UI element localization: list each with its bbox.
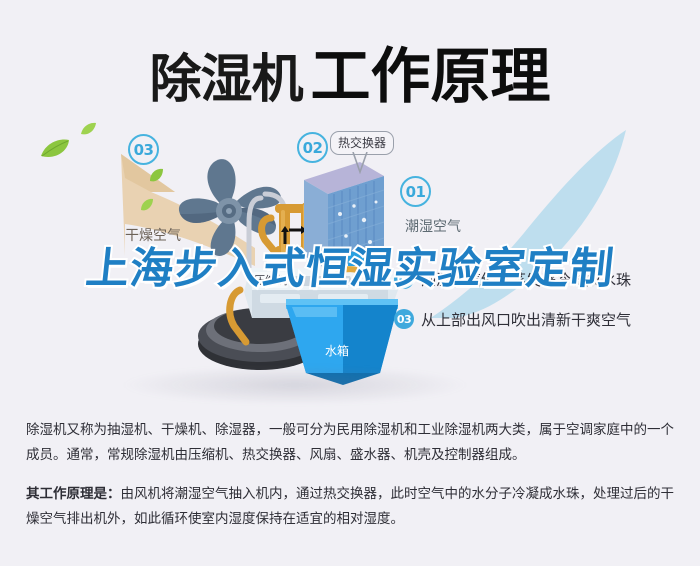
description-paragraph-2: 其工作原理是：由风机将潮湿空气抽入机内，通过热交换器，此时空气中的水分子冷凝成水… bbox=[26, 482, 676, 532]
paragraph-1-text: 除湿机又称为抽湿机、干燥机、除湿器，一般可分为民用除湿机和工业除湿机两大类，属于… bbox=[26, 422, 674, 463]
ground-shadow bbox=[120, 365, 470, 405]
infographic-page: 除湿机工作原理 bbox=[0, 0, 700, 566]
callout-03-badge: 03 bbox=[128, 134, 159, 165]
page-title: 除湿机工作原理 bbox=[0, 28, 700, 115]
description-paragraph-1: 除湿机又称为抽湿机、干燥机、除湿器，一般可分为民用除湿机和工业除湿机两大类，属于… bbox=[26, 418, 676, 468]
list-item: 03 从上部出风口吹出清新干爽空气 bbox=[394, 302, 694, 336]
leaf-icon bbox=[80, 122, 97, 136]
watermark-overlay: 上海步入式恒湿实验室定制 bbox=[0, 248, 700, 292]
callout-01-badge: 01 bbox=[400, 176, 431, 207]
page-title-part1: 除湿机 bbox=[149, 50, 302, 110]
callout-03-label: 干燥空气 bbox=[125, 225, 181, 245]
watermark-text: 上海步入式恒湿实验室定制 bbox=[84, 248, 617, 292]
paragraph-2-lead: 其工作原理是： bbox=[26, 486, 121, 502]
paragraph-2-text: 由风机将潮湿空气抽入机内，通过热交换器，此时空气中的水分子冷凝成水珠，处理过后的… bbox=[26, 486, 674, 527]
callout-02-badge: 02 bbox=[297, 132, 328, 163]
bullet-badge-03: 03 bbox=[394, 309, 414, 329]
callout-01-label: 潮湿空气 bbox=[405, 216, 461, 236]
page-title-part2: 工作原理 bbox=[311, 42, 551, 112]
leaf-icon bbox=[148, 168, 164, 183]
bullet-text-03: 从上部出风口吹出清新干爽空气 bbox=[421, 309, 631, 330]
leaf-icon bbox=[140, 198, 154, 212]
water-tank-label: 水箱 bbox=[325, 342, 349, 359]
leaf-icon bbox=[40, 138, 70, 160]
bubble-pointer-icon bbox=[352, 152, 368, 174]
